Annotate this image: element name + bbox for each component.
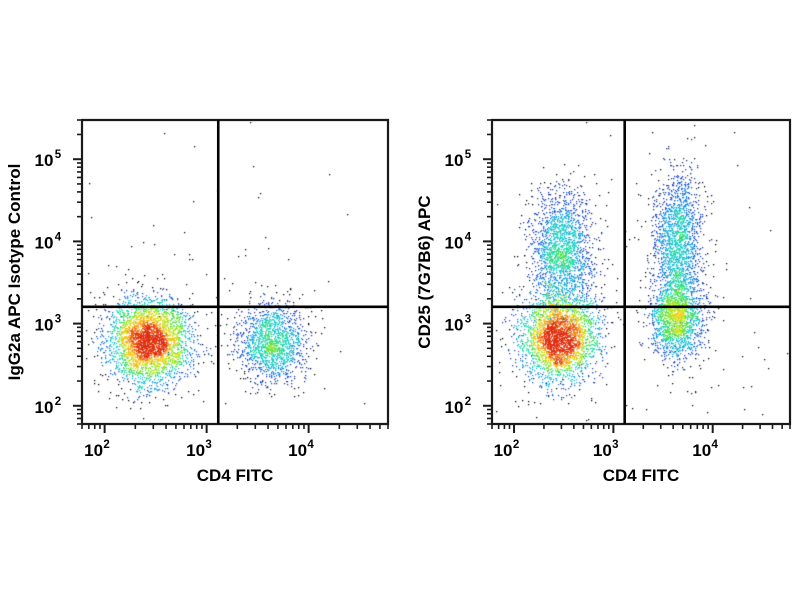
x-tick-label: 104 — [288, 439, 314, 460]
x-tick-mantissa: 10 — [288, 441, 307, 460]
x-tick-exponent: 4 — [307, 439, 314, 451]
y-tick-label: 105 — [35, 149, 62, 170]
y-tick-exponent: 5 — [465, 149, 472, 161]
x-tick-mantissa: 10 — [494, 441, 513, 460]
x-tick-label: 103 — [186, 439, 212, 460]
x-axis-title: CD4 FITC — [197, 466, 274, 485]
x-tick-exponent: 4 — [712, 439, 719, 451]
y-axis-title: CD25 (7G7B6) APC — [415, 195, 434, 348]
y-tick-mantissa: 10 — [445, 151, 464, 170]
y-tick-label: 104 — [445, 231, 472, 252]
y-tick-mantissa: 10 — [35, 151, 54, 170]
axes-overlay: 102103104105104103102CD4 FITCIgG2a APC I… — [0, 0, 800, 600]
x-tick-label: 102 — [494, 439, 520, 460]
y-axis-title: IgG2a APC Isotype Control — [5, 164, 24, 381]
y-tick-mantissa: 10 — [35, 233, 54, 252]
x-tick-mantissa: 10 — [593, 441, 612, 460]
y-tick-mantissa: 10 — [445, 233, 464, 252]
y-tick-label: 102 — [35, 396, 62, 417]
y-tick-exponent: 5 — [55, 149, 62, 161]
y-tick-exponent: 3 — [55, 314, 61, 326]
x-tick-exponent: 2 — [513, 439, 519, 451]
x-tick-mantissa: 10 — [692, 441, 711, 460]
x-tick-exponent: 3 — [205, 439, 211, 451]
y-tick-mantissa: 10 — [445, 316, 464, 335]
flow-cytometry-figure: 102103104105104103102CD4 FITCIgG2a APC I… — [0, 0, 800, 600]
x-tick-label: 103 — [593, 439, 619, 460]
y-tick-exponent: 2 — [55, 396, 61, 408]
y-tick-label: 102 — [445, 396, 472, 417]
y-tick-exponent: 3 — [465, 314, 471, 326]
y-tick-mantissa: 10 — [35, 398, 54, 417]
y-tick-exponent: 4 — [465, 231, 472, 243]
x-tick-label: 104 — [692, 439, 718, 460]
x-tick-label: 102 — [84, 439, 110, 460]
plot-panel-left: 102103104105104103102CD4 FITCIgG2a APC I… — [5, 120, 388, 485]
y-tick-label: 104 — [35, 231, 62, 252]
x-tick-mantissa: 10 — [186, 441, 205, 460]
plot-panel-right: 102103104105104103102CD4 FITCCD25 (7G7B6… — [415, 120, 790, 485]
x-tick-mantissa: 10 — [84, 441, 103, 460]
y-tick-exponent: 2 — [465, 396, 471, 408]
y-tick-mantissa: 10 — [445, 398, 464, 417]
plot-frame — [492, 120, 790, 424]
y-tick-label: 105 — [445, 149, 472, 170]
y-tick-exponent: 4 — [55, 231, 62, 243]
y-tick-label: 103 — [445, 314, 472, 335]
y-tick-mantissa: 10 — [35, 316, 54, 335]
y-tick-label: 103 — [35, 314, 62, 335]
plot-frame — [82, 120, 388, 424]
x-tick-exponent: 2 — [103, 439, 109, 451]
x-axis-title: CD4 FITC — [603, 466, 680, 485]
x-tick-exponent: 3 — [612, 439, 618, 451]
